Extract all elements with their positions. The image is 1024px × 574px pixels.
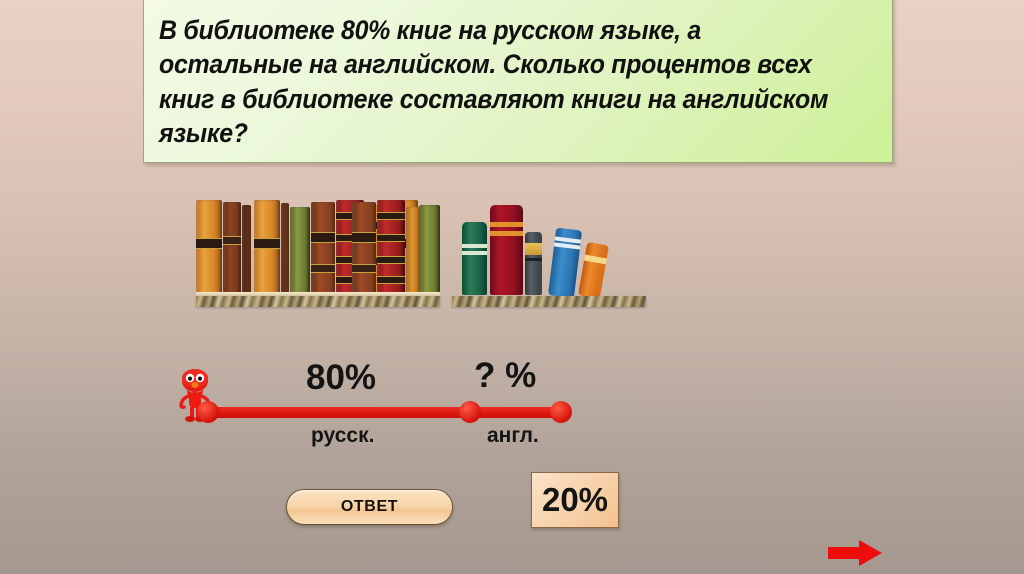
question-text: В библиотеке 80% книг на русском языке, … [144, 9, 847, 151]
book-spine [254, 200, 280, 295]
slide-root: В библиотеке 80% книг на русском языке, … [0, 0, 1024, 574]
question-box: В библиотеке 80% книг на русском языке, … [143, 0, 893, 163]
answer-value-box: 20% [531, 472, 619, 528]
book-spine [311, 202, 335, 295]
book-spine [281, 203, 289, 295]
book-spine [336, 200, 364, 295]
book-spine [223, 202, 241, 295]
book-spine [406, 207, 420, 295]
book-spine-green [462, 222, 487, 295]
book-spine [352, 202, 376, 295]
answer-button[interactable]: ОТВЕТ [286, 489, 453, 525]
shelf-board-left [196, 296, 440, 307]
modern-books-shelf [462, 205, 642, 295]
next-slide-arrow-icon[interactable] [826, 538, 884, 568]
value-label-left: 80% [306, 358, 376, 398]
shelf-board-right [452, 296, 646, 307]
book-spine-blue [548, 228, 582, 299]
antique-books-shelf-overflow [352, 200, 438, 295]
number-line-bar [205, 407, 563, 418]
segment-label-left: русск. [311, 424, 374, 448]
number-line-point-0[interactable] [197, 401, 219, 423]
book-spine [196, 200, 222, 295]
value-label-right: ? % [474, 356, 536, 396]
book-spine-gray [525, 232, 542, 295]
book-spine [365, 205, 387, 295]
shelf-edge-left [196, 292, 440, 296]
book-spine-darkred [490, 205, 523, 295]
number-line-point-80[interactable] [459, 401, 481, 423]
book-spine [419, 205, 440, 295]
book-spine [290, 207, 310, 295]
number-line-point-100[interactable] [550, 401, 572, 423]
antique-books-shelf [196, 200, 440, 295]
segment-label-right: англ. [487, 424, 539, 448]
book-spine [377, 200, 405, 295]
book-spine-orange [578, 242, 609, 299]
book-spine [242, 205, 251, 295]
book-spine [392, 200, 418, 295]
